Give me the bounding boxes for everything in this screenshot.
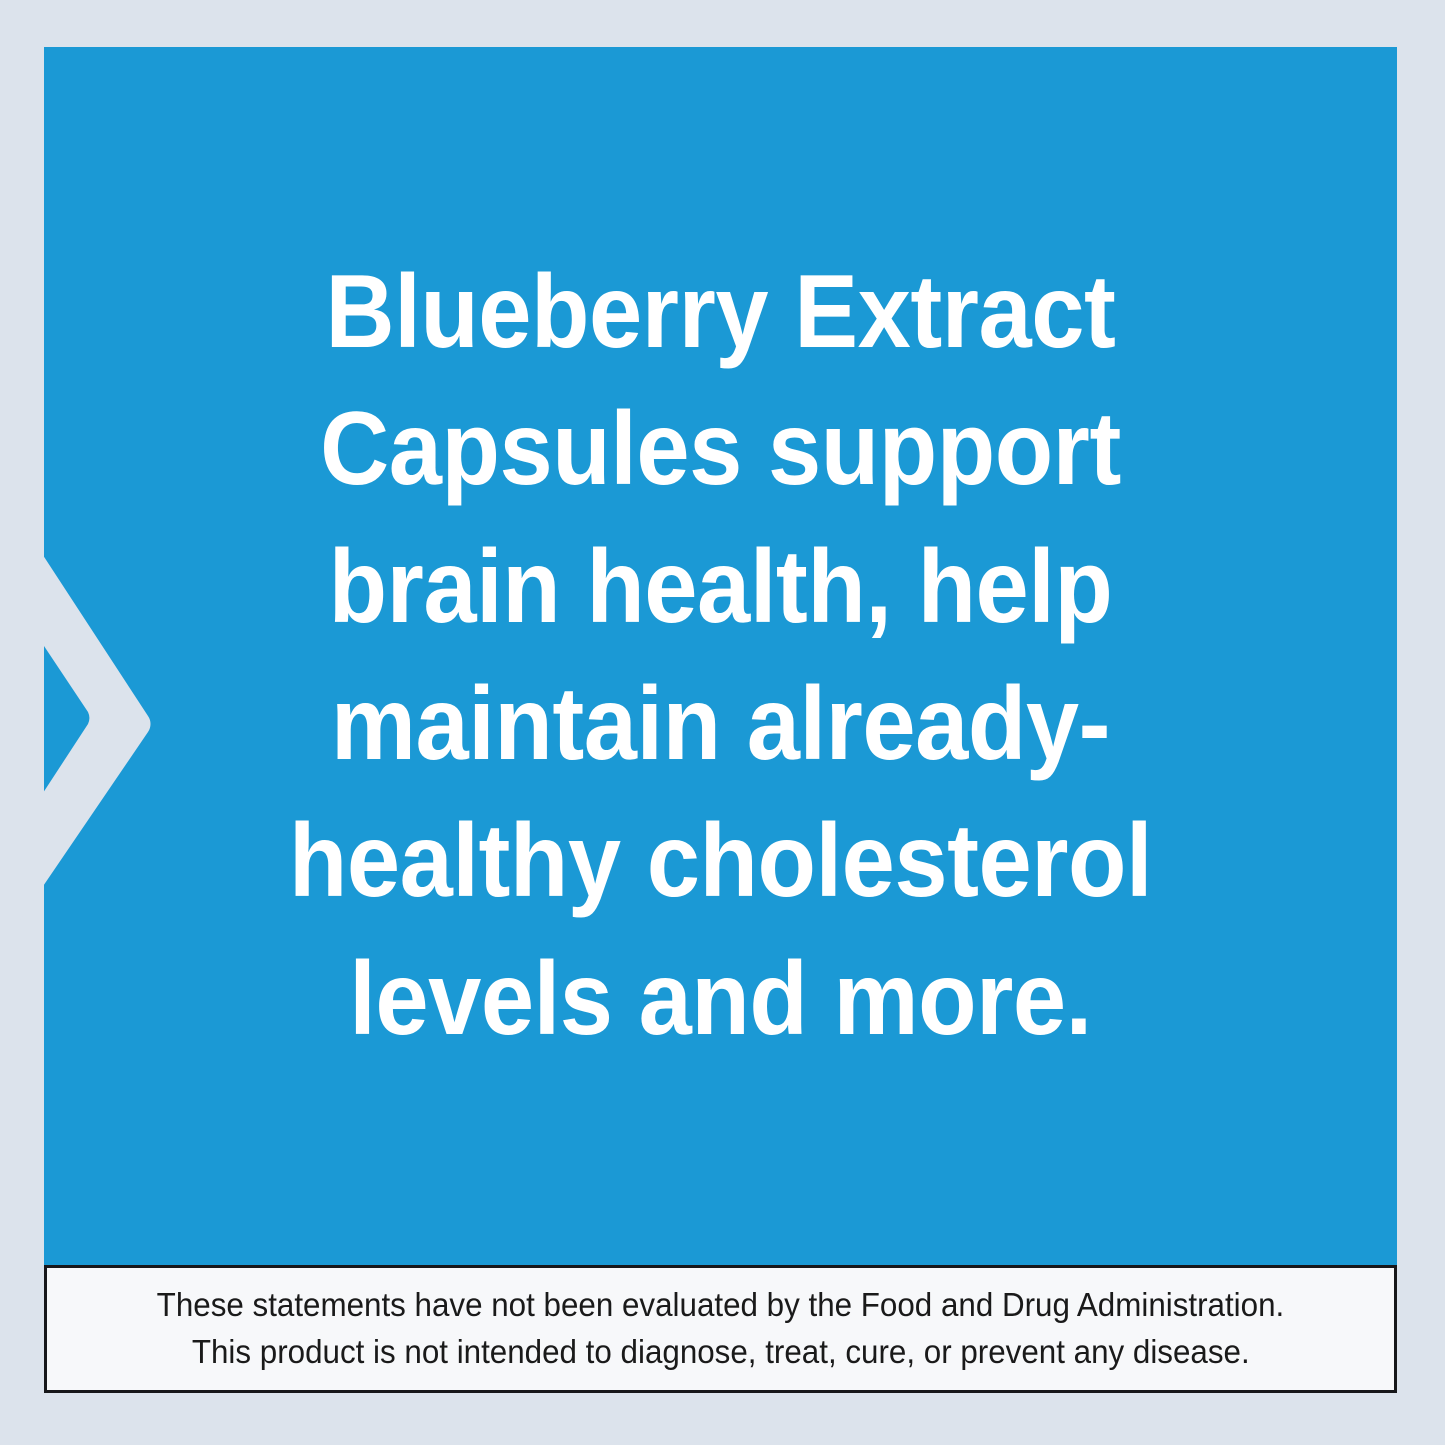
disclaimer-line-2: This product is not intended to diagnose… bbox=[192, 1329, 1250, 1376]
headline-block: Blueberry Extract Capsules support brain… bbox=[44, 47, 1397, 1265]
page-title: Blueberry Extract Capsules support brain… bbox=[236, 244, 1205, 1068]
disclaimer-line-1: These statements have not been evaluated… bbox=[157, 1282, 1285, 1329]
fda-disclaimer-box: These statements have not been evaluated… bbox=[44, 1265, 1397, 1393]
product-claim-graphic: Blueberry Extract Capsules support brain… bbox=[0, 0, 1445, 1445]
